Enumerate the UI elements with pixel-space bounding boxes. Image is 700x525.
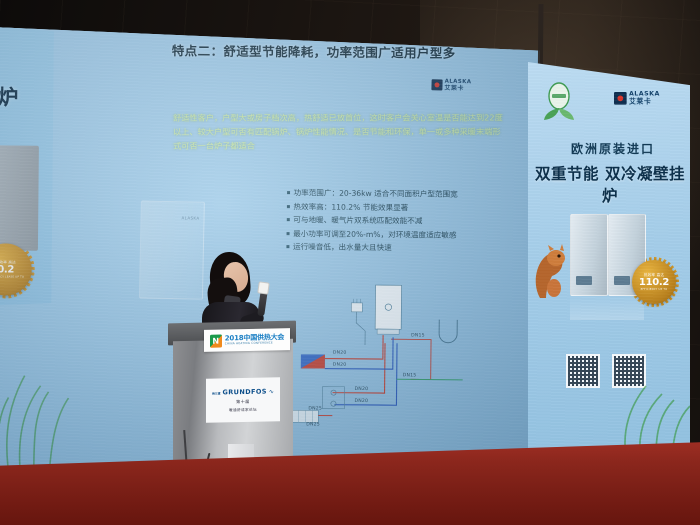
conference-sign-text: 2018中国供热大会 CHINA HEATING CONFERENCE xyxy=(225,334,284,346)
forum-edition: 第十届 xyxy=(236,398,250,404)
conference-title-en: CHINA HEATING CONFERENCE xyxy=(225,341,284,345)
grundfos-logo: 格兰富 GRUNDFOS ∿ xyxy=(212,387,274,396)
sponsor-name-en: GRUNDFOS xyxy=(223,387,267,396)
microphone-head xyxy=(257,281,270,294)
grundfos-mark-icon: ∿ xyxy=(269,388,274,395)
sponsor-name-cn: 格兰富 xyxy=(212,391,220,395)
forum-name: 暖通舒适家论坛 xyxy=(229,407,257,413)
podium-sponsor-sign: 格兰富 GRUNDFOS ∿ 第十届 暖通舒适家论坛 xyxy=(206,377,280,423)
conference-logo-mark: N xyxy=(210,334,222,347)
banner-scanlines xyxy=(528,62,690,482)
right-vertical-banner: ALASKA 艾莱卡 欧洲原装进口 双重节能 双冷凝壁挂炉 热效率 高达 110… xyxy=(528,62,690,482)
conference-stage-photo: 挂炉 热效率 高达 0.2 EFFICIENCY LEASE UP TO 特点二… xyxy=(0,0,700,525)
podium-conference-sign: N 2018中国供热大会 CHINA HEATING CONFERENCE xyxy=(204,328,290,352)
